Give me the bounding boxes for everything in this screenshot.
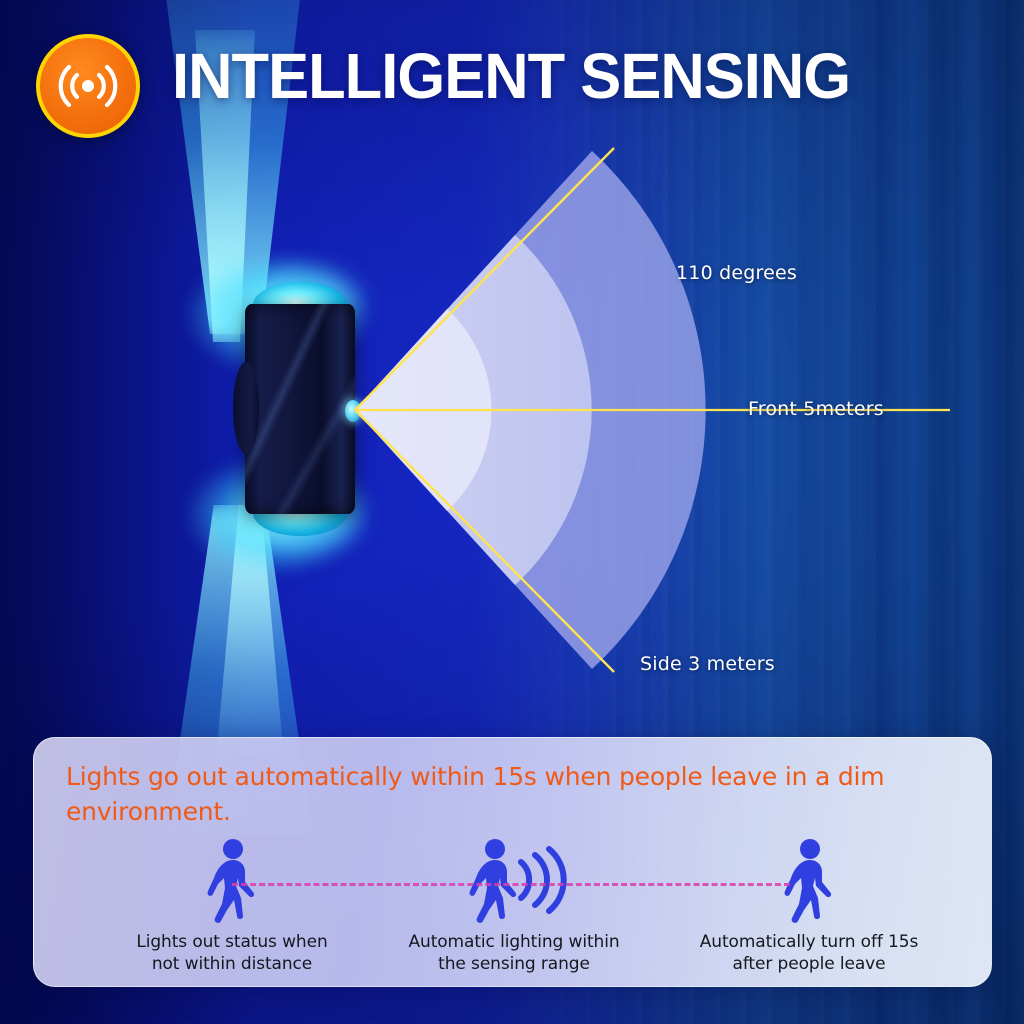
info-panel: Lights go out automatically within 15s w… (33, 737, 992, 987)
step-caption-line1: Automatic lighting within (364, 932, 664, 954)
walking-person-sensing-icon (459, 838, 569, 924)
step-caption-line2: not within distance (82, 954, 382, 976)
step-caption: Lights out status when not within distan… (82, 932, 382, 976)
panel-headline: Lights go out automatically within 15s w… (66, 760, 946, 829)
step-caption: Automatic lighting within the sensing ra… (364, 932, 664, 976)
step-caption-line1: Lights out status when (82, 932, 382, 954)
pir-sensor-dome (345, 400, 361, 422)
page-title: INTELLIGENT SENSING (172, 44, 850, 108)
step-icon-area (364, 838, 664, 924)
steps-row: Lights out status when not within distan… (34, 838, 992, 987)
step-item: Automatic lighting within the sensing ra… (364, 838, 664, 976)
step-caption: Automatically turn off 15s after people … (659, 932, 959, 976)
wall-sconce-motion-light (245, 300, 355, 518)
step-item: Lights out status when not within distan… (82, 838, 382, 976)
cone-label-side: Side 3 meters (640, 653, 775, 675)
lamp-body (245, 304, 355, 514)
step-caption-line2: after people leave (659, 954, 959, 976)
product-feature-graphic: 110 degrees Front 5meters Side 3 meters … (0, 0, 1024, 1024)
step-icon-area (659, 838, 959, 924)
signal-wave-icon (56, 58, 120, 114)
sensing-dash-line (232, 883, 790, 886)
step-icon-area (82, 838, 382, 924)
cone-label-angle: 110 degrees (676, 262, 797, 284)
sensing-badge (36, 34, 140, 138)
step-item: Automatically turn off 15s after people … (659, 838, 959, 976)
cone-label-front: Front 5meters (748, 398, 884, 420)
lamp-side-panel (233, 362, 259, 454)
walking-person-icon (197, 838, 267, 924)
walking-person-icon (774, 838, 844, 924)
step-caption-line2: the sensing range (364, 954, 664, 976)
step-caption-line1: Automatically turn off 15s (659, 932, 959, 954)
